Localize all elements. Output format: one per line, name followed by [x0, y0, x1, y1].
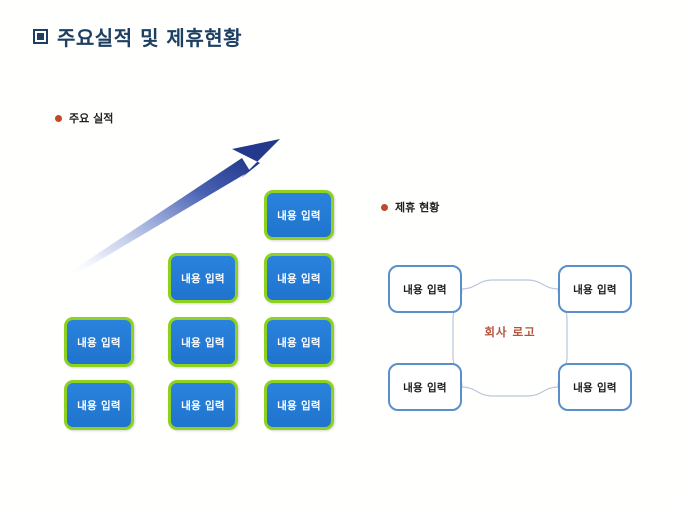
performance-box[interactable]: 내용 입력: [168, 317, 238, 367]
company-logo-placeholder: 회사 로고: [380, 324, 640, 340]
round-bullet-icon: [55, 115, 62, 122]
performance-box[interactable]: 내용 입력: [168, 253, 238, 303]
performance-box[interactable]: 내용 입력: [264, 317, 334, 367]
partner-box-bottom-right[interactable]: 내용 입력: [558, 363, 632, 411]
filled-square-icon: [33, 29, 48, 44]
partner-diagram: 내용 입력 내용 입력 내용 입력 내용 입력 회사 로고: [380, 258, 640, 418]
page-title-text: 주요실적 및 제휴현황: [57, 22, 242, 51]
partner-box-bottom-left[interactable]: 내용 입력: [388, 363, 462, 411]
performance-box[interactable]: 내용 입력: [168, 380, 238, 430]
partner-box-top-right[interactable]: 내용 입력: [558, 265, 632, 313]
round-bullet-icon: [381, 204, 388, 211]
section-label-partners: 제휴 현황: [381, 199, 439, 215]
performance-box[interactable]: 내용 입력: [64, 317, 134, 367]
section-label-performance-text: 주요 실적: [69, 110, 113, 126]
performance-box[interactable]: 내용 입력: [264, 190, 334, 240]
partner-box-top-left[interactable]: 내용 입력: [388, 265, 462, 313]
performance-box[interactable]: 내용 입력: [264, 380, 334, 430]
performance-box[interactable]: 내용 입력: [264, 253, 334, 303]
page-title: 주요실적 및 제휴현황: [33, 22, 242, 51]
performance-box[interactable]: 내용 입력: [64, 380, 134, 430]
section-label-performance: 주요 실적: [55, 110, 113, 126]
section-label-partners-text: 제휴 현황: [395, 199, 439, 215]
